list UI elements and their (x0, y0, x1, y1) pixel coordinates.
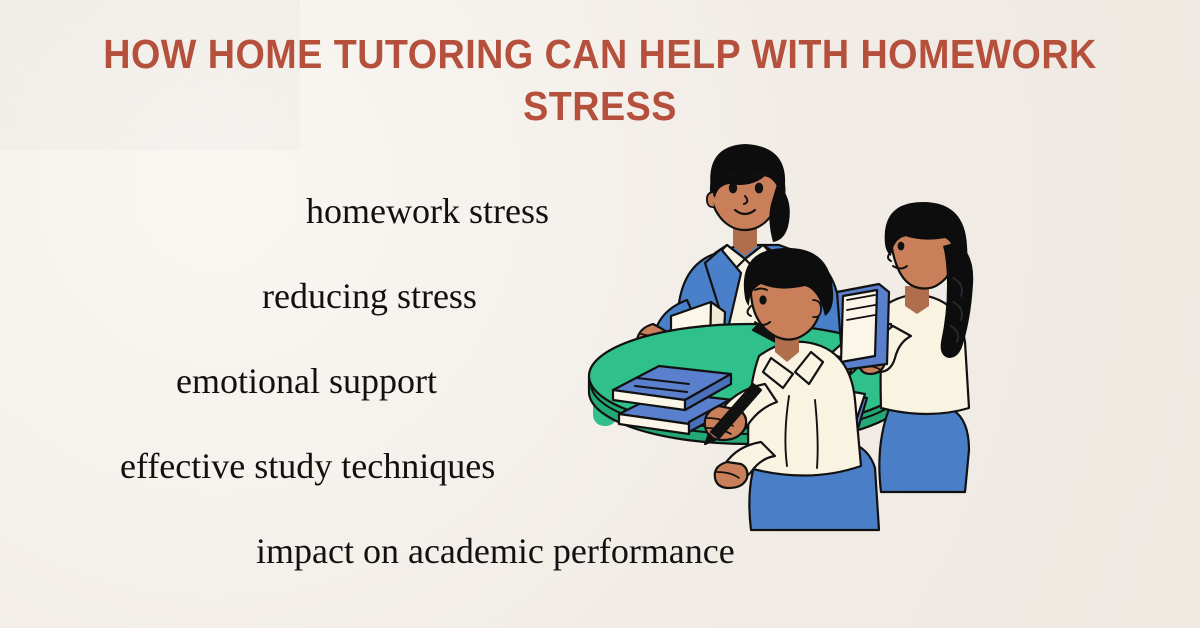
poster-canvas: HOW HOME TUTORING CAN HELP WITH HOMEWORK… (0, 0, 1200, 628)
list-item: impact on academic performance (0, 508, 930, 593)
topic-label-reducing-stress: reducing stress (262, 276, 477, 316)
list-item: effective study techniques (0, 423, 930, 508)
poster-title: HOW HOME TUTORING CAN HELP WITH HOMEWORK… (60, 28, 1140, 132)
title-line-1: HOW HOME TUTORING CAN HELP WITH HOMEWORK (103, 28, 1097, 80)
topic-label-impact-on-academic-performance: impact on academic performance (256, 531, 735, 571)
list-item: emotional support (0, 338, 930, 423)
topic-list: homework stress reducing stress emotiona… (0, 168, 930, 593)
list-item: reducing stress (0, 253, 930, 338)
list-item: homework stress (0, 168, 930, 253)
topic-label-homework-stress: homework stress (306, 191, 549, 231)
topic-label-emotional-support: emotional support (176, 361, 437, 401)
title-line-2: STRESS (103, 80, 1097, 132)
topic-label-effective-study-techniques: effective study techniques (120, 446, 495, 486)
